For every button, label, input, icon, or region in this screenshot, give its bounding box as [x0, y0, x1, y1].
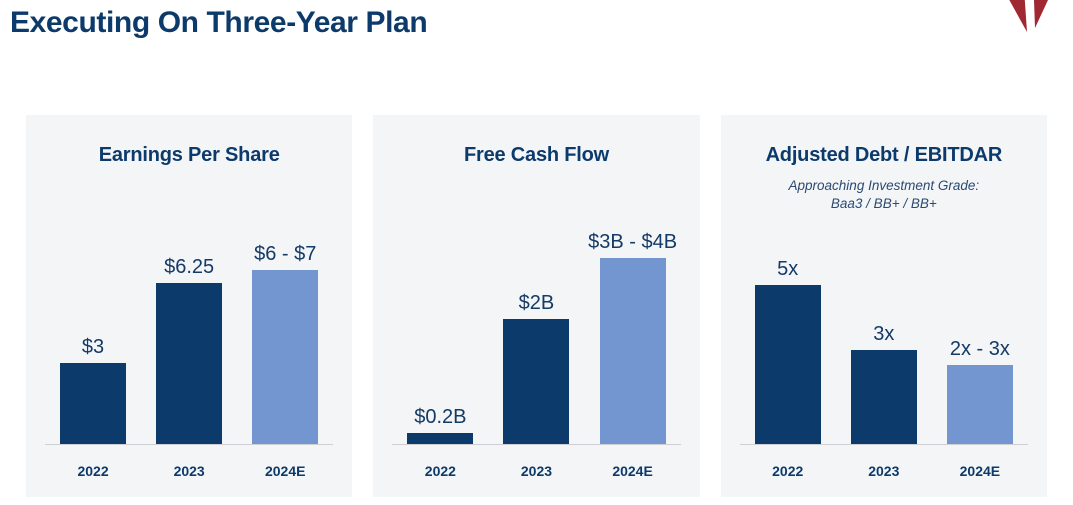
- plot-area: $3 $6.25 $6 - $7: [45, 205, 333, 445]
- x-tick-label: 2022: [740, 463, 836, 479]
- bar[interactable]: [851, 350, 917, 445]
- x-tick-label: 2024E: [932, 463, 1028, 479]
- chart-subtitle-line-1: Approaching Investment Grade:: [721, 177, 1047, 195]
- bar-group: 5x: [740, 205, 836, 445]
- chart-title: Free Cash Flow: [373, 144, 699, 167]
- chart-panel-free-cash-flow: Free Cash Flow $0.2B $2B $3B - $4B 2022: [373, 115, 699, 497]
- x-axis-labels: 2022 2023 2024E: [45, 459, 333, 479]
- metrics-panel-row: Earnings Per Share $3 $6.25 $6 - $7 2022: [26, 115, 1047, 497]
- slide-header: Executing On Three-Year Plan: [0, 0, 1073, 100]
- bar-value-label: $3: [82, 336, 104, 359]
- bar[interactable]: [755, 285, 821, 445]
- bar-value-label: $2B: [519, 292, 555, 315]
- x-tick-label: 2023: [836, 463, 932, 479]
- chart-panel-earnings-per-share: Earnings Per Share $3 $6.25 $6 - $7 2022: [26, 115, 352, 497]
- bar-group: $3: [45, 205, 141, 445]
- chart-title: Earnings Per Share: [26, 144, 352, 167]
- page-title: Executing On Three-Year Plan: [10, 6, 427, 40]
- bar-group: 2x - 3x: [932, 205, 1028, 445]
- bar[interactable]: [947, 365, 1013, 445]
- bar[interactable]: [252, 270, 318, 445]
- bar-chart-free-cash-flow: $0.2B $2B $3B - $4B 2022 2023 2024E: [392, 205, 680, 497]
- chart-panel-adjusted-debt-ebitdar: Adjusted Debt / EBITDAR Approaching Inve…: [721, 115, 1047, 497]
- bar-value-label: 3x: [873, 323, 894, 346]
- bar-group: $6 - $7: [237, 205, 333, 445]
- x-tick-label: 2024E: [237, 463, 333, 479]
- x-axis-line: [740, 444, 1028, 446]
- x-axis-labels: 2022 2023 2024E: [392, 459, 680, 479]
- x-axis-line: [45, 444, 333, 446]
- plot-area: 5x 3x 2x - 3x: [740, 205, 1028, 445]
- bar[interactable]: [600, 258, 666, 445]
- bar-group: $2B: [488, 205, 584, 445]
- x-axis-labels: 2022 2023 2024E: [740, 459, 1028, 479]
- bar-group: 3x: [836, 205, 932, 445]
- bar[interactable]: [60, 363, 126, 445]
- bar-group: $6.25: [141, 205, 237, 445]
- bar-value-label: $6.25: [164, 256, 214, 279]
- plot-area: $0.2B $2B $3B - $4B: [392, 205, 680, 445]
- x-axis-line: [392, 444, 680, 446]
- bar-value-label: 2x - 3x: [950, 338, 1010, 361]
- bar[interactable]: [156, 283, 222, 445]
- chart-title: Adjusted Debt / EBITDAR: [721, 144, 1047, 167]
- x-tick-label: 2022: [45, 463, 141, 479]
- bar-value-label: $3B - $4B: [588, 231, 677, 254]
- bar-value-label: 5x: [777, 258, 798, 281]
- delta-widget-logo: [989, 0, 1061, 46]
- bar-group: $0.2B: [392, 205, 488, 445]
- x-tick-label: 2022: [392, 463, 488, 479]
- bar-value-label: $0.2B: [414, 406, 466, 429]
- bar-value-label: $6 - $7: [254, 243, 316, 266]
- bar[interactable]: [503, 319, 569, 445]
- x-tick-label: 2024E: [585, 463, 681, 479]
- x-tick-label: 2023: [141, 463, 237, 479]
- bar-group: $3B - $4B: [585, 205, 681, 445]
- bar-chart-earnings-per-share: $3 $6.25 $6 - $7 2022 2023 2024E: [45, 205, 333, 497]
- x-tick-label: 2023: [488, 463, 584, 479]
- bar-chart-adjusted-debt-ebitdar: 5x 3x 2x - 3x 2022 2023 2024E: [740, 205, 1028, 497]
